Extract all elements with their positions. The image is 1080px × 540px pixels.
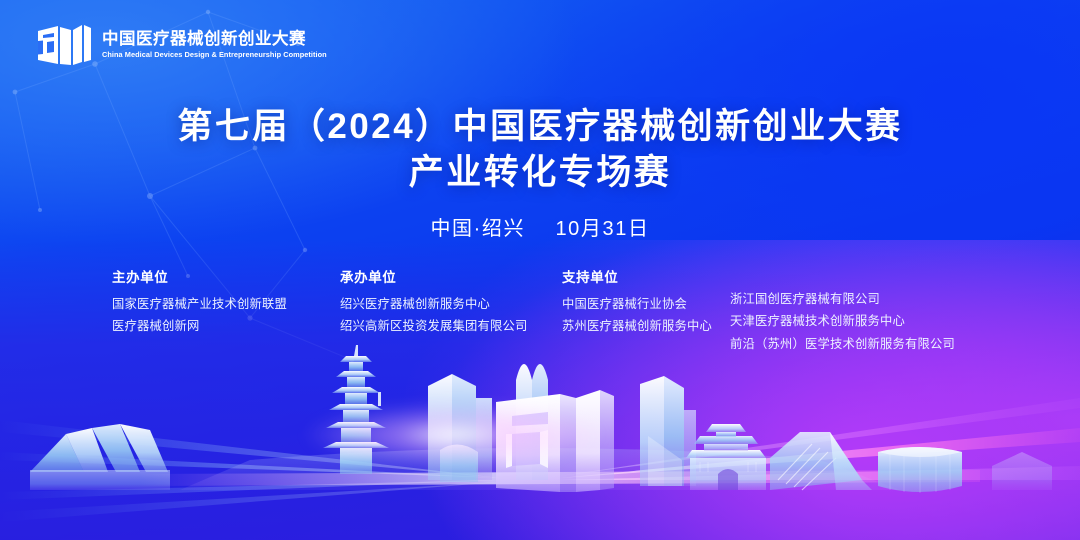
open-book-door-logo-icon [36, 22, 92, 68]
organizer-column-host: 主办单位 国家医疗器械产业技术创新联盟 医疗器械创新网 [112, 266, 340, 338]
organizer-item: 浙江国创医疗器械有限公司 [730, 288, 992, 310]
organizer-column-support-extra: 浙江国创医疗器械有限公司 天津医疗器械技术创新服务中心 前沿（苏州）医学技术创新… [730, 266, 992, 355]
organizer-item: 国家医疗器械产业技术创新联盟 [112, 293, 340, 315]
organizer-item: 天津医疗器械技术创新服务中心 [730, 310, 992, 332]
hero-subtitle: 中国·绍兴 10月31日 [0, 212, 1080, 241]
organizer-item: 前沿（苏州）医学技术创新服务有限公司 [730, 333, 992, 355]
organizer-heading: 支持单位 [562, 266, 730, 286]
organizers-block: 主办单位 国家医疗器械产业技术创新联盟 医疗器械创新网 承办单位 绍兴医疗器械创… [112, 266, 992, 355]
brand-name-en: China Medical Devices Design & Entrepren… [102, 51, 327, 59]
organizer-item: 医疗器械创新网 [112, 315, 340, 337]
organizer-heading: 承办单位 [340, 266, 562, 286]
event-date: 10月31日 [555, 218, 649, 240]
hero-title-line2: 产业转化专场赛 [0, 150, 1080, 196]
center-light-burst [244, 390, 664, 480]
organizer-item: 苏州医疗器械创新服务中心 [562, 315, 730, 337]
organizer-column-organizer: 承办单位 绍兴医疗器械创新服务中心 绍兴高新区投资发展集团有限公司 [340, 266, 562, 338]
brand-name-cn: 中国医疗器械创新创业大赛 [102, 30, 334, 49]
poster-canvas: 中国医疗器械创新创业大赛 China Medical Devices Desig… [0, 0, 1080, 540]
hero-title-block: 第七届（2024）中国医疗器械创新创业大赛 产业转化专场赛 中国·绍兴 10月3… [0, 104, 1080, 241]
organizer-item: 中国医疗器械行业协会 [562, 293, 730, 315]
organizer-heading: 主办单位 [112, 266, 340, 286]
brand-logo-text: 中国医疗器械创新创业大赛 China Medical Devices Desig… [102, 30, 334, 59]
organizer-item: 绍兴高新区投资发展集团有限公司 [340, 315, 562, 337]
organizer-item: 绍兴医疗器械创新服务中心 [340, 293, 562, 315]
brand-logo[interactable]: 中国医疗器械创新创业大赛 China Medical Devices Desig… [36, 22, 334, 68]
hero-title-line1: 第七届（2024）中国医疗器械创新创业大赛 [0, 104, 1080, 150]
event-location: 中国·绍兴 [430, 218, 525, 240]
organizer-column-support: 支持单位 中国医疗器械行业协会 苏州医疗器械创新服务中心 [562, 266, 730, 338]
